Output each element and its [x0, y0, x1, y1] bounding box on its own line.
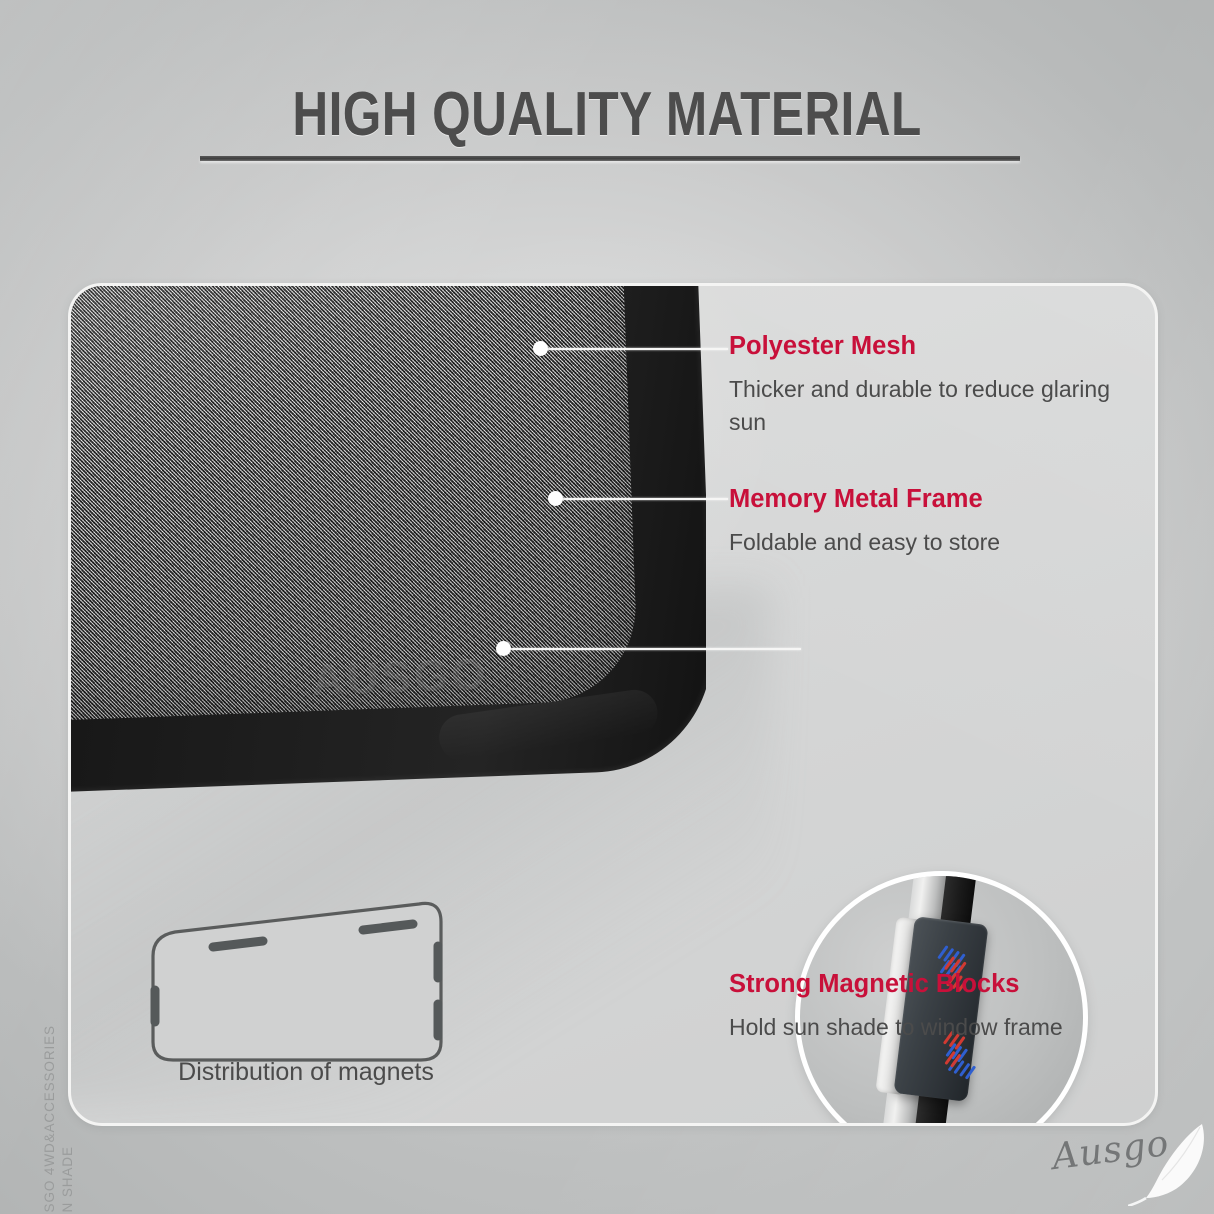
brand-logo: Ausgo: [1046, 1122, 1206, 1202]
callout-memory-metal-frame: Memory Metal Frame Foldable and easy to …: [729, 484, 1129, 559]
magnet-diagram-caption: Distribution of magnets: [111, 1058, 501, 1087]
content-card: AUSGO Polyester Mesh Thicker and durable…: [68, 283, 1158, 1126]
leader-dot-mesh: [533, 341, 548, 356]
callout-body-polyester-mesh: Thicker and durable to reduce glaring su…: [729, 373, 1129, 439]
feather-icon: [1128, 1118, 1214, 1206]
vertical-label-line-1: AUSGO 4WD&ACCESSORIES: [41, 1003, 59, 1214]
magnet-top-right: [363, 924, 413, 930]
infographic-canvas: HIGH QUALITY MATERIAL AUSGO 4WD&ACCESSOR…: [0, 0, 1214, 1214]
callout-strong-magnetic-blocks: Strong Magnetic Blocks Hold sun shade to…: [729, 969, 1129, 1044]
title-underline: [200, 156, 1020, 161]
page-title: HIGH QUALITY MATERIAL: [121, 80, 1092, 150]
callout-title-polyester-mesh: Polyester Mesh: [729, 331, 1129, 361]
leader-line-mesh: [548, 348, 728, 350]
callout-title-memory-metal-frame: Memory Metal Frame: [729, 484, 1129, 514]
magnet-top-left: [213, 941, 263, 947]
magnet-distribution-diagram: [141, 894, 471, 1074]
callout-polyester-mesh: Polyester Mesh Thicker and durable to re…: [729, 331, 1129, 439]
callout-body-memory-metal-frame: Foldable and easy to store: [729, 526, 1129, 559]
leader-dot-magnet: [496, 641, 511, 656]
leader-line-magnet: [511, 648, 801, 650]
callout-title-strong-magnetic-blocks: Strong Magnetic Blocks: [729, 969, 1129, 999]
product-photo: AUSGO: [68, 283, 706, 801]
leader-dot-frame: [548, 491, 563, 506]
leader-line-frame: [563, 498, 728, 500]
callout-body-strong-magnetic-blocks: Hold sun shade to window frame: [729, 1011, 1129, 1044]
